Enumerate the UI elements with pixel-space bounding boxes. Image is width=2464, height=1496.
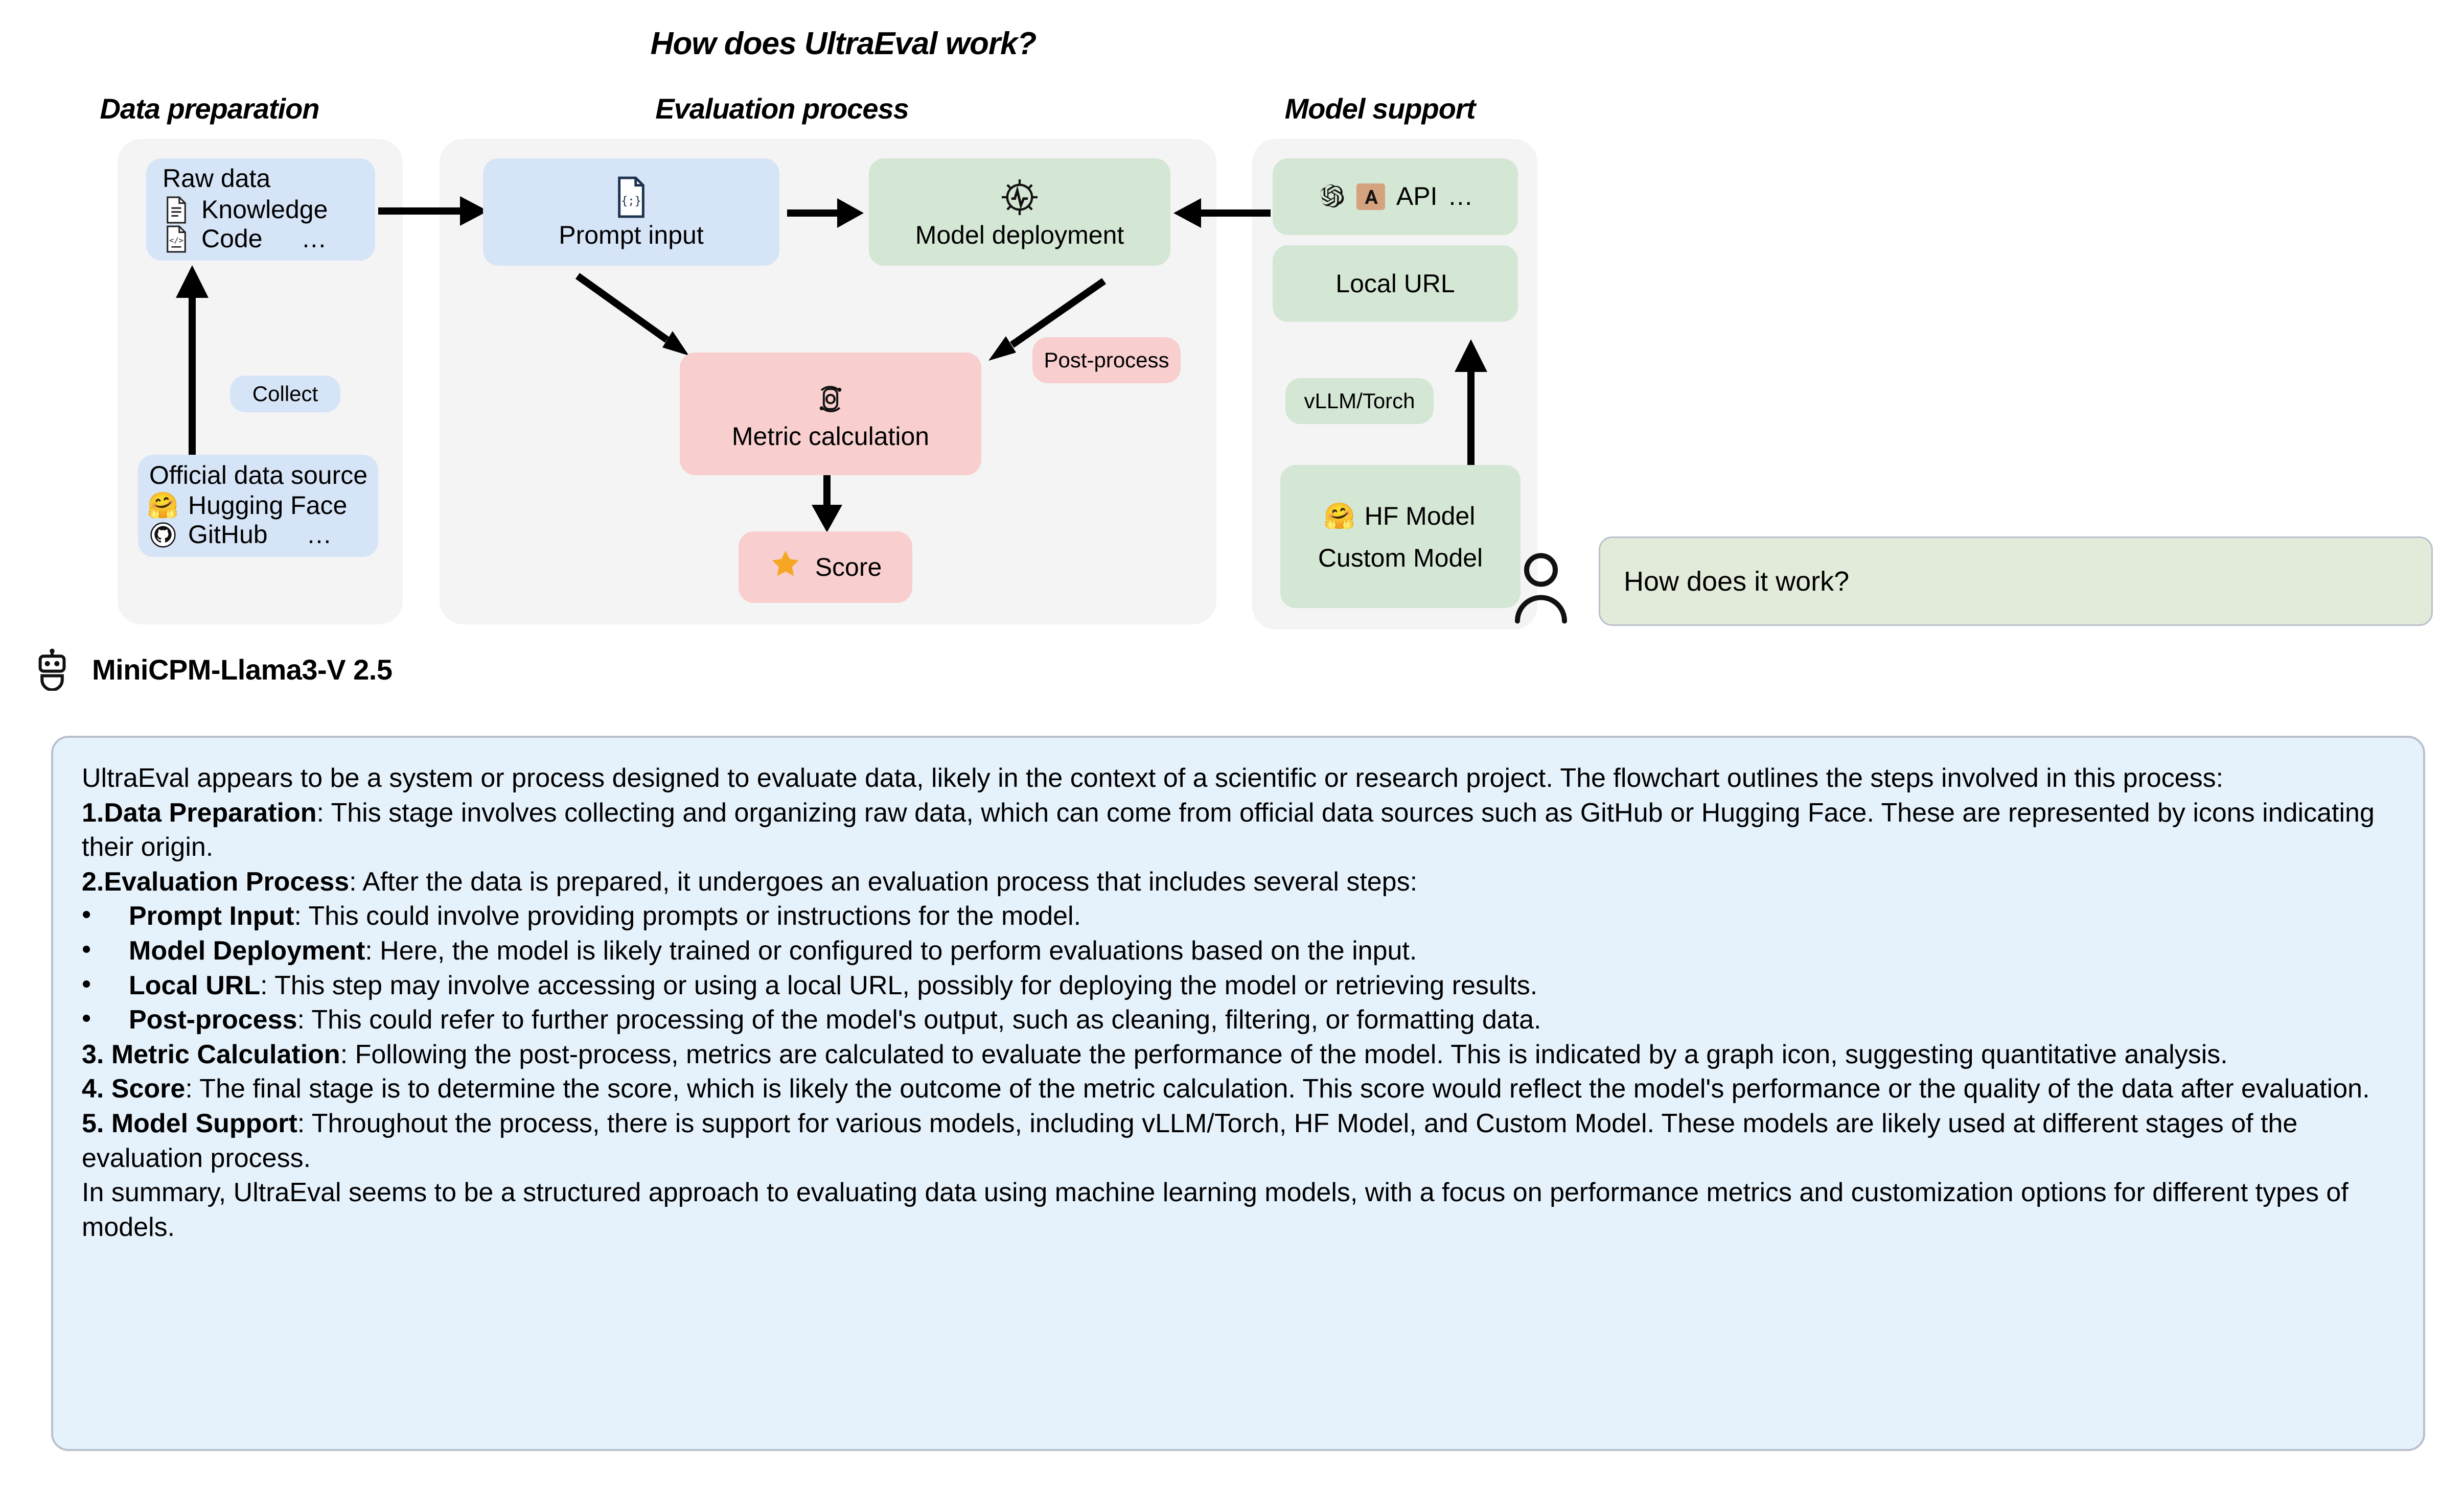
svg-text:</>: </> — [169, 236, 183, 245]
arrow-prompt-to-metric — [572, 271, 705, 363]
local-url-label: Local URL — [1335, 270, 1455, 297]
answer-bullet-item: •Local URL: This step may involve access… — [82, 969, 2394, 1003]
vllm-torch-label: vLLM/Torch — [1304, 389, 1415, 413]
official-source-title: Official data source — [149, 462, 367, 489]
metric-orbit-icon — [809, 378, 852, 423]
hugging-face-icon: 🤗 — [1326, 503, 1353, 530]
column-title-data-preparation: Data preparation — [82, 92, 337, 125]
svg-text:{;}: {;} — [621, 195, 641, 208]
assistant-name: MiniCPM-Llama3-V 2.5 — [92, 653, 392, 686]
robot-icon — [31, 648, 74, 691]
diagram-title: How does UltraEval work? — [613, 26, 1073, 62]
answer-bullet-item: •Post-process: This could refer to furth… — [82, 1003, 2394, 1038]
arrow-source-to-rawdata — [162, 258, 223, 462]
node-official-data-source: Official data source 🤗 Hugging Face GitH… — [138, 455, 378, 557]
bullet-marker: • — [82, 969, 102, 1003]
official-source-ellipsis: ... — [308, 520, 332, 550]
assistant-answer-bubble: UltraEval appears to be a system or proc… — [51, 736, 2425, 1451]
collect-label: Collect — [252, 382, 318, 406]
column-title-evaluation-process: Evaluation process — [578, 92, 986, 125]
arrow-hfmodel-to-localurl — [1441, 332, 1503, 480]
raw-data-title: Raw data — [163, 165, 270, 192]
api-row: API ... — [1318, 182, 1473, 212]
answer-bullet-item: •Model Deployment: Here, the model is li… — [82, 934, 2394, 969]
post-process-label: Post-process — [1044, 348, 1169, 372]
answer-bullet-text: Post-process: This could refer to furthe… — [102, 1003, 2394, 1038]
node-metric-calculation: Metric calculation — [680, 353, 981, 475]
answer-numbered-item: 2.Evaluation Process: After the data is … — [82, 865, 2394, 900]
raw-data-item-code: </> Code ... — [163, 224, 327, 254]
anthropic-icon — [1356, 183, 1385, 210]
metric-calculation-label: Metric calculation — [732, 423, 929, 450]
hf-model-label: HF Model — [1365, 502, 1476, 531]
api-label: API — [1396, 182, 1438, 212]
node-model-deployment: Model deployment — [869, 158, 1170, 266]
node-local-url: Local URL — [1273, 245, 1518, 322]
node-post-process: Post-process — [1032, 337, 1181, 383]
answer-bullet-text: Local URL: This step may involve accessi… — [102, 969, 2394, 1003]
node-collect-label: Collect — [230, 376, 340, 412]
answer-numbered-item: 4. Score: The final stage is to determin… — [82, 1072, 2394, 1107]
bullet-marker: • — [82, 1003, 102, 1038]
prompt-input-label: Prompt input — [559, 222, 703, 249]
code-file-icon: </> — [163, 225, 190, 253]
ultraeval-flowchart: How does UltraEval work? Data preparatio… — [31, 0, 1538, 644]
api-ellipsis: ... — [1448, 182, 1473, 212]
answer-paragraph: UltraEval appears to be a system or proc… — [82, 761, 2394, 796]
model-deployment-label: Model deployment — [915, 222, 1124, 249]
node-prompt-input: {;} Prompt input — [483, 158, 779, 266]
column-title-model-support: Model support — [1227, 92, 1533, 125]
official-source-item-github: GitHub ... — [149, 520, 332, 550]
node-hf-custom-model: 🤗 HF Model Custom Model — [1280, 465, 1521, 608]
json-file-icon: {;} — [613, 175, 649, 222]
custom-model-label: Custom Model — [1318, 545, 1483, 572]
score-label: Score — [815, 552, 882, 582]
star-icon — [769, 548, 802, 587]
hf-model-row: 🤗 HF Model — [1326, 502, 1476, 531]
official-source-item-hugging-face: 🤗 Hugging Face — [149, 491, 347, 521]
arrow-prompt-to-deploy — [787, 195, 869, 231]
user-message-block: How does it work? — [1513, 536, 2448, 649]
screenshot-root: How does UltraEval work? Data preparatio… — [0, 0, 2464, 1496]
arrow-modelsupport-to-deploy — [1173, 195, 1276, 231]
hugging-face-label: Hugging Face — [188, 491, 347, 521]
raw-data-item-knowledge: Knowledge — [163, 195, 328, 225]
hugging-face-icon: 🤗 — [149, 492, 177, 520]
raw-data-code-label: Code — [201, 224, 263, 254]
document-icon — [163, 196, 190, 224]
user-message-bubble: How does it work? — [1599, 536, 2433, 626]
gear-pulse-icon — [998, 175, 1042, 222]
user-avatar-icon — [1513, 551, 1569, 627]
raw-data-knowledge-label: Knowledge — [201, 195, 328, 225]
arrow-rawdata-to-prompt — [378, 193, 496, 229]
node-raw-data: Raw data Knowledge </> Code ... — [146, 158, 375, 261]
openai-icon — [1318, 183, 1345, 211]
node-vllm-torch: vLLM/Torch — [1285, 378, 1434, 424]
answer-numbered-item: 3. Metric Calculation: Following the pos… — [82, 1038, 2394, 1072]
node-score: Score — [739, 531, 912, 603]
answer-paragraph: In summary, UltraEval seems to be a stru… — [82, 1176, 2394, 1245]
answer-numbered-item: 5. Model Support: Throughout the process… — [82, 1107, 2394, 1176]
arrow-metric-to-score — [808, 475, 869, 536]
answer-bullet-text: Prompt Input: This could involve providi… — [102, 899, 2394, 934]
answer-numbered-item: 1.Data Preparation: This stage involves … — [82, 796, 2394, 865]
user-message-text: How does it work? — [1624, 566, 1849, 597]
github-icon — [149, 521, 177, 549]
assistant-header: MiniCPM-Llama3-V 2.5 — [31, 648, 392, 691]
github-label: GitHub — [188, 520, 268, 550]
answer-bullet-item: •Prompt Input: This could involve provid… — [82, 899, 2394, 934]
bullet-marker: • — [82, 899, 102, 934]
raw-data-ellipsis: ... — [303, 224, 327, 254]
answer-bullet-text: Model Deployment: Here, the model is lik… — [102, 934, 2394, 969]
node-api: API ... — [1273, 158, 1518, 235]
bullet-marker: • — [82, 934, 102, 969]
assistant-answer-body: UltraEval appears to be a system or proc… — [82, 761, 2394, 1245]
